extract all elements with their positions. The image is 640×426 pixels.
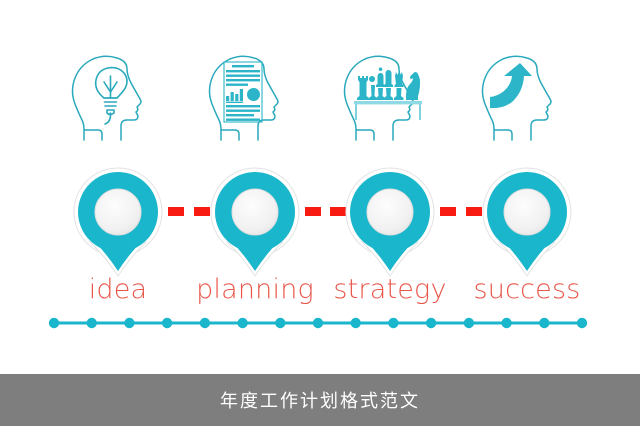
- head-document-chart-icon: [195, 52, 315, 144]
- dash-segment: [440, 207, 456, 216]
- step-pin-success[interactable]: [475, 163, 579, 281]
- head-lightbulb-icon: [58, 52, 178, 144]
- head-growth-arrow-icon: [468, 52, 588, 144]
- dash-segment: [305, 207, 321, 216]
- dash-segment: [168, 207, 184, 216]
- infographic-canvas: idea planning strategy success: [0, 0, 640, 426]
- step-label-success: success: [427, 274, 627, 306]
- step-pin-strategy[interactable]: [338, 163, 442, 281]
- head-chess-icon: [330, 52, 450, 144]
- dotted-timeline: [48, 316, 588, 330]
- caption-bar: 年度工作计划格式范文: [0, 374, 640, 426]
- caption-text: 年度工作计划格式范文: [220, 387, 420, 413]
- step-pin-idea[interactable]: [66, 163, 170, 281]
- step-pin-planning[interactable]: [203, 163, 307, 281]
